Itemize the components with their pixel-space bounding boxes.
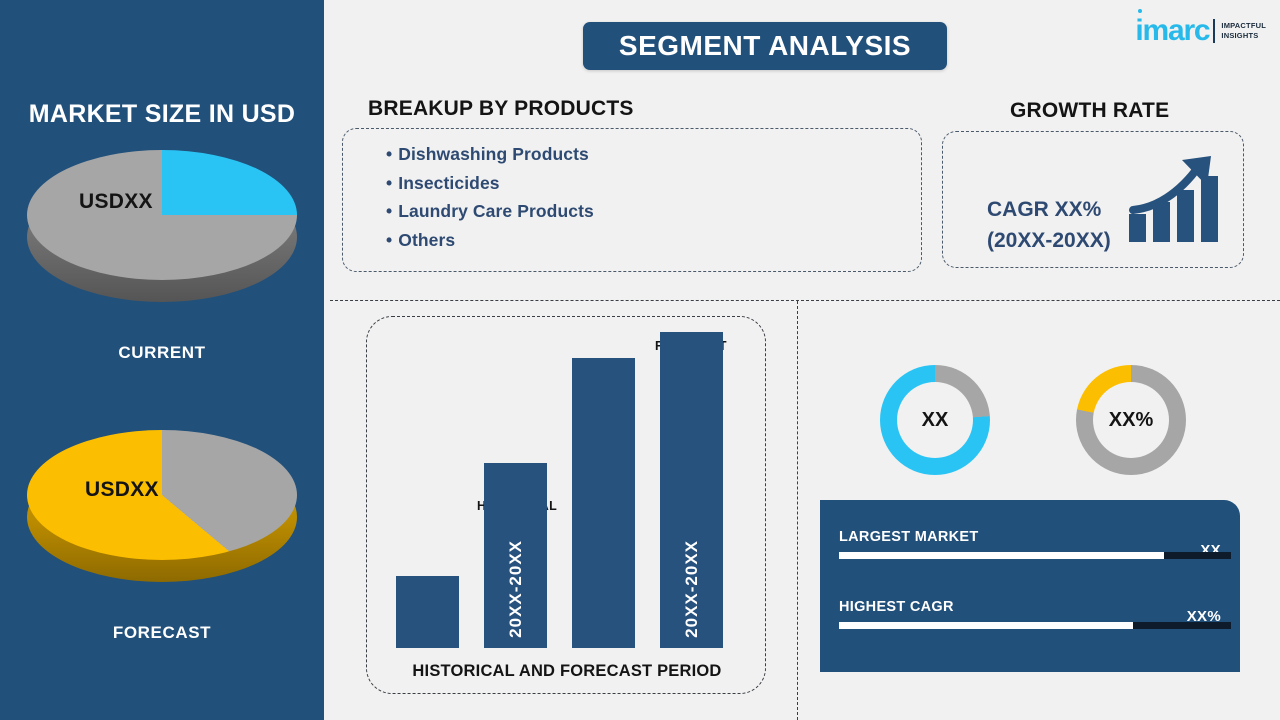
market-share-donut: XX <box>880 365 990 475</box>
logo-tagline-line2: INSIGHTS <box>1221 31 1266 41</box>
list-item: •Insecticides <box>386 169 594 198</box>
cagr-donut-value: XX% <box>1093 382 1169 458</box>
pie-forecast-caption: FORECAST <box>0 623 324 643</box>
list-item-label: Others <box>398 230 455 250</box>
cagr-text: CAGR XX% (20XX-20XX) <box>987 194 1111 256</box>
kpi-card: LARGEST MARKET XX HIGHEST CAGR XX% <box>820 500 1240 672</box>
bullet-icon: • <box>386 201 392 221</box>
kpi-highest-cagr-track <box>839 622 1231 629</box>
sidebar-title: MARKET SIZE IN USD <box>0 100 324 129</box>
bullet-icon: • <box>386 144 392 164</box>
bar-4: 20XX-20XX <box>660 332 723 648</box>
list-item-label: Laundry Care Products <box>398 201 594 221</box>
market-size-current-chart: USDXX CURRENT <box>0 150 324 363</box>
pie-3d-current: USDXX <box>27 150 297 325</box>
kpi-largest-market-label: LARGEST MARKET <box>839 529 979 545</box>
kpi-highest-cagr-label: HIGHEST CAGR <box>839 599 954 615</box>
pie-3d-forecast: USDXX <box>27 430 297 605</box>
logo-wordmark: imarc <box>1135 16 1209 46</box>
growth-heading: GROWTH RATE <box>1010 99 1169 123</box>
pie-forecast-top <box>27 430 297 560</box>
bullet-icon: • <box>386 173 392 193</box>
list-item-label: Insecticides <box>398 173 499 193</box>
imarc-logo: imarc IMPACTFUL INSIGHTS <box>1135 14 1266 48</box>
main-content: SEGMENT ANALYSIS imarc IMPACTFUL INSIGHT… <box>324 0 1280 720</box>
cagr-line-2: (20XX-20XX) <box>987 225 1111 256</box>
divider-horizontal <box>330 300 1280 301</box>
kpi-highest-cagr: HIGHEST CAGR XX% <box>839 598 1221 629</box>
growth-box: CAGR XX% (20XX-20XX) <box>942 131 1244 268</box>
bar-chart-caption: HISTORICAL AND FORECAST PERIOD <box>367 662 767 681</box>
page-title: SEGMENT ANALYSIS <box>583 22 947 70</box>
cagr-donut: XX% <box>1076 365 1186 475</box>
cagr-line-1: CAGR XX% <box>987 194 1111 225</box>
bar-2-label: 20XX-20XX <box>506 540 526 638</box>
kpi-largest-market-track <box>839 552 1231 559</box>
bar-2: 20XX-20XX <box>484 463 547 648</box>
bar-chart-stage: HISTORICAL 20XX-20XX FORECAST 20XX-20XX … <box>367 317 767 695</box>
infographic-root: MARKET SIZE IN USD USDXX CURRENT USDXX F… <box>0 0 1280 720</box>
bar-4-label: 20XX-20XX <box>682 540 702 638</box>
logo-divider <box>1213 19 1215 43</box>
list-item: •Laundry Care Products <box>386 197 594 226</box>
bar-1 <box>396 576 459 648</box>
sidebar: MARKET SIZE IN USD USDXX CURRENT USDXX F… <box>0 0 324 720</box>
list-item-label: Dishwashing Products <box>398 144 589 164</box>
list-item: •Others <box>386 226 594 255</box>
kpi-highest-cagr-fill <box>839 622 1133 629</box>
logo-tagline: IMPACTFUL INSIGHTS <box>1221 21 1266 41</box>
market-size-forecast-chart: USDXX FORECAST <box>0 430 324 643</box>
historical-forecast-chart: HISTORICAL 20XX-20XX FORECAST 20XX-20XX … <box>366 316 766 694</box>
pie-current-caption: CURRENT <box>0 343 324 363</box>
list-item: •Dishwashing Products <box>386 140 594 169</box>
market-share-donut-value: XX <box>897 382 973 458</box>
growth-arrow-chart-icon <box>1127 154 1219 255</box>
breakup-list: •Dishwashing Products •Insecticides •Lau… <box>386 140 594 254</box>
pie-forecast-value: USDXX <box>85 478 159 502</box>
logo-dot-icon <box>1138 9 1142 13</box>
logo-tagline-line1: IMPACTFUL <box>1221 21 1266 31</box>
pie-current-value: USDXX <box>79 190 153 214</box>
kpi-largest-market: LARGEST MARKET XX <box>839 528 1221 559</box>
pie-current-top <box>27 150 297 280</box>
bar-3 <box>572 358 635 648</box>
breakup-heading: BREAKUP BY PRODUCTS <box>368 97 634 121</box>
bullet-icon: • <box>386 230 392 250</box>
divider-vertical <box>797 301 798 720</box>
kpi-largest-market-fill <box>839 552 1164 559</box>
